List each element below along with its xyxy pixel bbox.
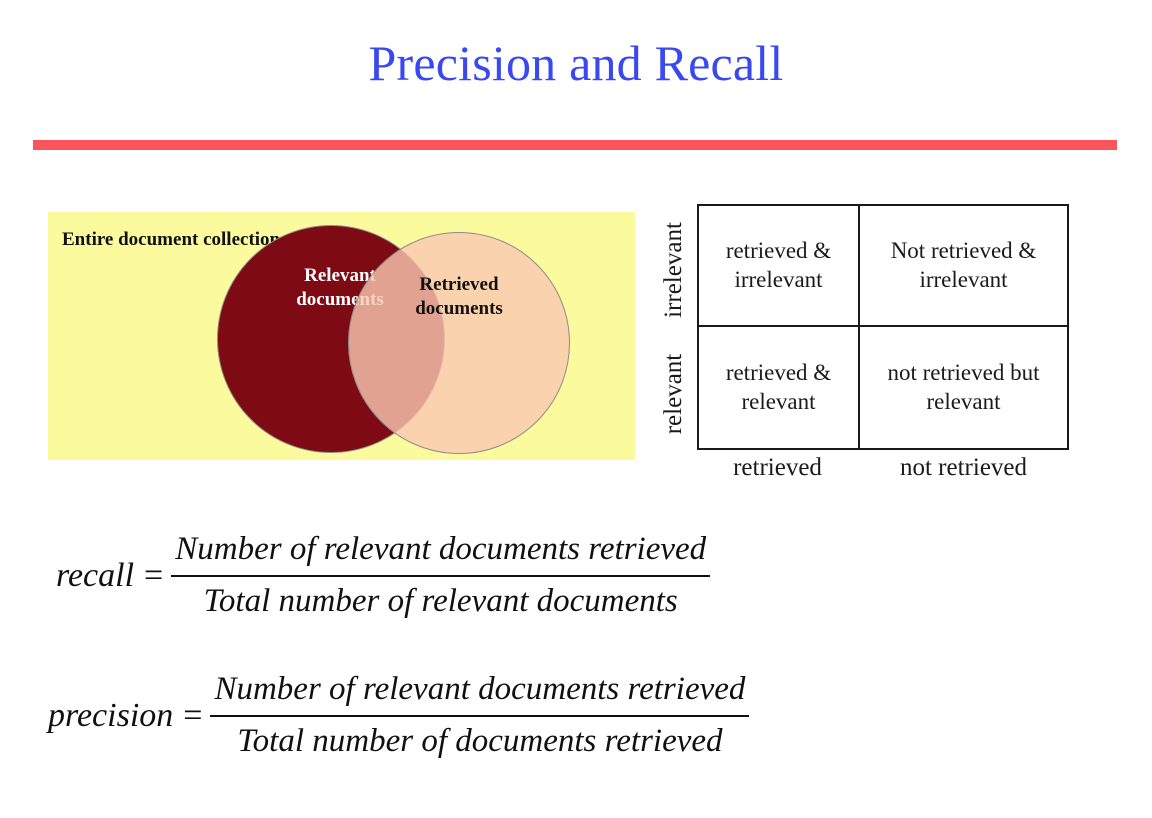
precision-formula-name: precision (48, 697, 173, 735)
recall-numerator: Number of relevant documents retrieved (171, 528, 710, 572)
venn-diagram-panel: Entire document collection Relevant docu… (48, 212, 635, 460)
matrix-row-axis: irrelevant relevant (656, 204, 692, 450)
matrix-cell-retrieved-relevant: retrieved & relevant (699, 327, 860, 448)
matrix-cell-retrieved-irrelevant: retrieved & irrelevant (699, 206, 860, 327)
recall-fraction-bar (171, 575, 710, 577)
matrix-cell-notretrieved-relevant: not retrieved but relevant (860, 327, 1067, 448)
recall-formula: recall = Number of relevant documents re… (56, 528, 710, 623)
recall-fraction: Number of relevant documents retrieved T… (171, 528, 710, 623)
slide-canvas: Precision and Recall Entire document col… (0, 0, 1152, 818)
row-label-irrelevant: irrelevant (660, 202, 688, 338)
title-divider (33, 140, 1117, 150)
matrix-cell-notretrieved-irrelevant: Not retrieved & irrelevant (860, 206, 1067, 327)
matrix-col-axis: retrieved not retrieved (697, 454, 1069, 482)
page-title: Precision and Recall (0, 36, 1152, 91)
entire-collection-label: Entire document collection (62, 228, 292, 252)
precision-fraction-bar (210, 715, 749, 717)
precision-denominator: Total number of documents retrieved (233, 720, 726, 764)
precision-fraction: Number of relevant documents retrieved T… (210, 668, 749, 763)
recall-formula-name: recall (56, 557, 134, 595)
contingency-matrix: irrelevant relevant retrieved & irreleva… (656, 204, 1076, 494)
matrix-grid: retrieved & irrelevant Not retrieved & i… (697, 204, 1069, 450)
precision-equals-sign: = (173, 697, 210, 735)
row-label-relevant: relevant (660, 326, 688, 462)
retrieved-documents-circle: Retrieved documents (348, 232, 570, 454)
precision-numerator: Number of relevant documents retrieved (210, 668, 749, 712)
col-label-not-retrieved: not retrieved (858, 454, 1069, 482)
recall-equals-sign: = (134, 557, 171, 595)
col-label-retrieved: retrieved (697, 454, 858, 482)
retrieved-documents-label: Retrieved documents (349, 273, 569, 321)
precision-formula: precision = Number of relevant documents… (48, 668, 749, 763)
recall-denominator: Total number of relevant documents (200, 580, 682, 624)
